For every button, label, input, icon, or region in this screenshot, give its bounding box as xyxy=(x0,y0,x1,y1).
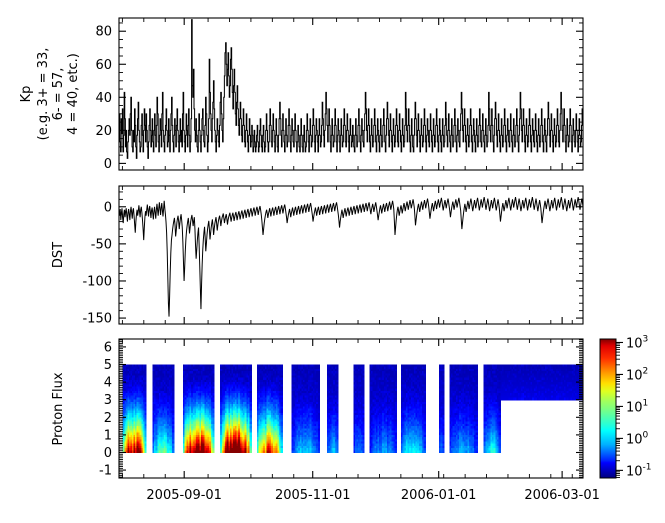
flux-band xyxy=(220,365,252,454)
flux-band xyxy=(370,365,398,454)
flux-band xyxy=(152,365,174,454)
flux-cell xyxy=(318,450,320,453)
kp-ylabel-line-1: (e.g. 3+ = 33, xyxy=(36,48,51,141)
flux-cell xyxy=(336,450,338,453)
flux-cell xyxy=(281,450,283,453)
flux-band xyxy=(183,365,215,454)
y-ticklabel: -150 xyxy=(82,312,112,327)
y-ticklabel: 80 xyxy=(95,25,112,40)
y-ticklabel: 60 xyxy=(95,58,112,73)
y-ticklabel: 20 xyxy=(95,124,112,139)
kp-ylabel-line-2: 6- = 57, xyxy=(51,68,66,121)
flux-band xyxy=(327,365,339,454)
flux-cell xyxy=(172,450,174,453)
y-ticklabel: -50 xyxy=(91,237,112,252)
flux-band xyxy=(123,365,147,454)
dst-ylabel: DST xyxy=(51,242,66,268)
flux-band xyxy=(257,365,283,454)
flux-band xyxy=(353,365,364,454)
flux-cell xyxy=(250,450,252,453)
flux-band xyxy=(292,365,320,454)
y-ticklabel: 0 xyxy=(104,157,112,172)
figure-root: 020406080 Kp (e.g. 3+ = 33, 6- = 57, 4 =… xyxy=(0,0,665,523)
y-ticklabel: -100 xyxy=(82,274,112,289)
kp-ylabel-line-0: Kp xyxy=(19,86,34,103)
y-ticklabel: 0 xyxy=(104,200,112,215)
flux-cell xyxy=(144,450,146,453)
y-ticklabel: 40 xyxy=(95,91,112,106)
kp-ylabel-line-3: 4 = 40, etc.) xyxy=(66,53,81,135)
flux-cell xyxy=(362,450,364,453)
flux-cell xyxy=(212,450,214,453)
multi-panel-plot: 020406080 Kp (e.g. 3+ = 33, 6- = 57, 4 =… xyxy=(0,0,665,523)
